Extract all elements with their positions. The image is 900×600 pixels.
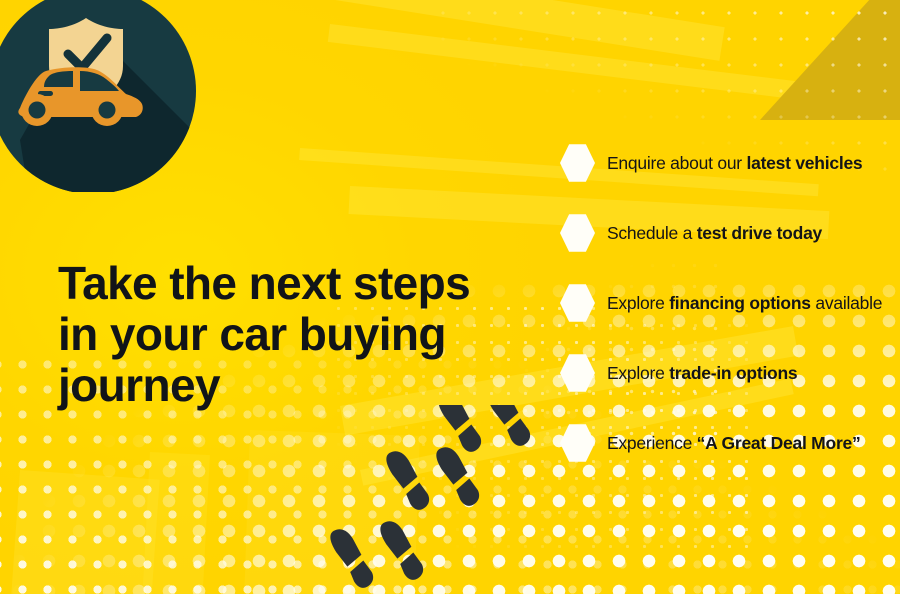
headline-line-2: in your car buying	[58, 309, 528, 360]
footprint-icon	[377, 516, 427, 584]
footprint-icon	[383, 446, 433, 514]
benefits-list: Enquire about our latest vehicles Schedu…	[560, 128, 900, 478]
footprints-graphic	[320, 405, 570, 600]
list-item-label: Experience “A Great Deal More”	[607, 433, 861, 454]
brand-badge	[0, 0, 196, 192]
headline-line-1: Take the next steps	[58, 258, 528, 309]
footprint-icon	[327, 524, 377, 592]
list-item[interactable]: Schedule a test drive today	[560, 198, 900, 268]
list-item[interactable]: Enquire about our latest vehicles	[560, 128, 900, 198]
list-item-label: Explore trade-in options	[607, 363, 797, 384]
headline-line-3: journey	[58, 360, 528, 411]
list-item[interactable]: Experience “A Great Deal More”	[560, 408, 900, 478]
footprints-svg	[320, 405, 570, 600]
list-item[interactable]: Explore trade-in options	[560, 338, 900, 408]
footprint-icon	[484, 405, 534, 450]
list-item[interactable]: Explore financing options available	[560, 268, 900, 338]
list-item-label: Explore financing options available	[607, 293, 882, 314]
hexagon-bullet-icon	[560, 353, 595, 393]
list-item-label: Enquire about our latest vehicles	[607, 153, 862, 174]
hexagon-bullet-icon	[560, 213, 595, 253]
hexagon-bullet-icon	[560, 143, 595, 183]
promo-banner: Take the next steps in your car buying j…	[0, 0, 900, 600]
hexagon-bullet-icon	[560, 423, 595, 463]
ray-shape	[5, 470, 159, 600]
footprint-icon	[433, 442, 483, 510]
bottom-white-strip	[0, 594, 900, 600]
ray-shape	[138, 452, 209, 600]
brand-badge-svg	[0, 0, 196, 192]
list-item-label: Schedule a test drive today	[607, 223, 822, 244]
page-title: Take the next steps in your car buying j…	[58, 258, 528, 411]
hexagon-bullet-icon	[560, 283, 595, 323]
